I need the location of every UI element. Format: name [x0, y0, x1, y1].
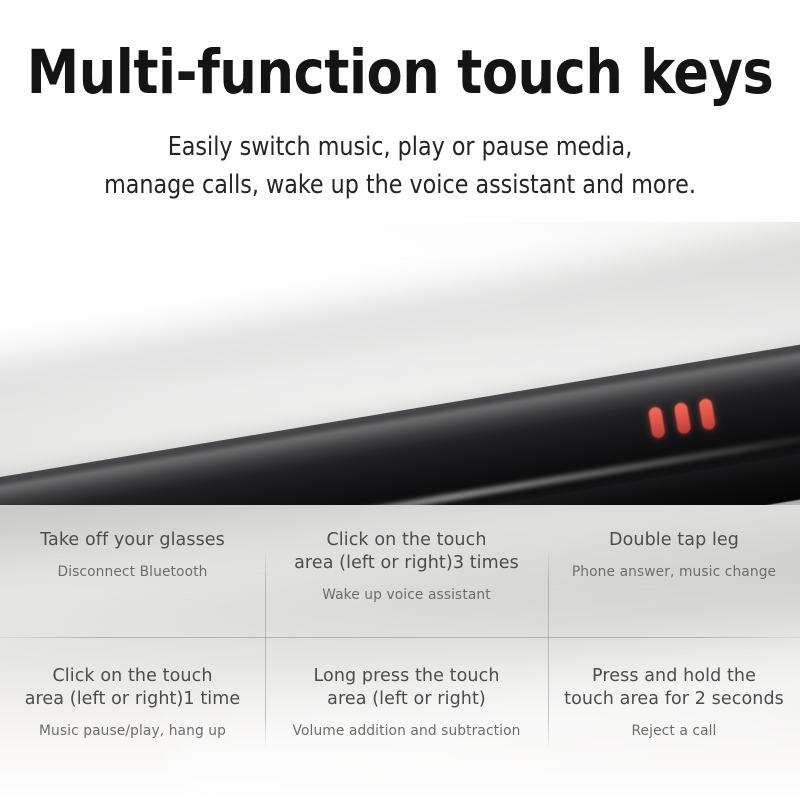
led-bar-2: [673, 401, 691, 434]
gesture-action: Phone answer, music change: [572, 563, 776, 582]
gesture-action: Volume addition and subtraction: [293, 722, 521, 741]
gesture-cell-double-tap-leg: Double tap leg Phone answer, music chang…: [548, 505, 800, 637]
gesture-grid: Take off your glasses Disconnect Bluetoo…: [0, 505, 800, 800]
gesture-title: Press and hold the touch area for 2 seco…: [564, 665, 784, 711]
gesture-title: Long press the touch area (left or right…: [313, 665, 499, 711]
product-photo: [0, 222, 800, 540]
gesture-title-line-1: Click on the touch: [25, 665, 241, 688]
gesture-title-line-2: touch area for 2 seconds: [564, 688, 784, 711]
gesture-title-line-2: area (left or right)1 time: [25, 688, 241, 711]
gesture-cell-take-off-glasses: Take off your glasses Disconnect Bluetoo…: [0, 505, 265, 637]
gesture-info-table: Take off your glasses Disconnect Bluetoo…: [0, 505, 800, 800]
gesture-cell-single-tap: Click on the touch area (left or right)1…: [0, 637, 265, 800]
gesture-action: Wake up voice assistant: [322, 586, 491, 605]
gesture-title-line-1: Click on the touch: [294, 529, 519, 552]
gesture-title: Take off your glasses: [40, 529, 225, 552]
gesture-cell-triple-tap: Click on the touch area (left or right)3…: [265, 505, 548, 637]
gesture-title-line-1: Press and hold the: [564, 665, 784, 688]
gesture-title: Click on the touch area (left or right)1…: [25, 665, 241, 711]
gesture-cell-press-hold: Press and hold the touch area for 2 seco…: [548, 637, 800, 800]
gesture-action: Music pause/play, hang up: [39, 722, 226, 741]
gesture-title-line-1: Long press the touch: [313, 665, 499, 688]
page-subtitle: Easily switch music, play or pause media…: [12, 128, 788, 204]
gesture-action: Disconnect Bluetooth: [57, 563, 207, 582]
subtitle-line-1: Easily switch music, play or pause media…: [12, 128, 788, 166]
page-title: Multi-function touch keys: [16, 38, 784, 108]
gesture-title-line-2: area (left or right)3 times: [294, 552, 519, 575]
gesture-action: Reject a call: [631, 722, 716, 741]
promo-page: Multi-function touch keys Easily switch …: [0, 0, 800, 800]
subtitle-line-2: manage calls, wake up the voice assistan…: [12, 166, 788, 204]
gesture-title-line-2: area (left or right): [313, 688, 499, 711]
gesture-title: Double tap leg: [609, 529, 739, 552]
header-section: Multi-function touch keys Easily switch …: [0, 0, 800, 222]
gesture-cell-long-press: Long press the touch area (left or right…: [265, 637, 548, 800]
gesture-title: Click on the touch area (left or right)3…: [294, 529, 519, 575]
